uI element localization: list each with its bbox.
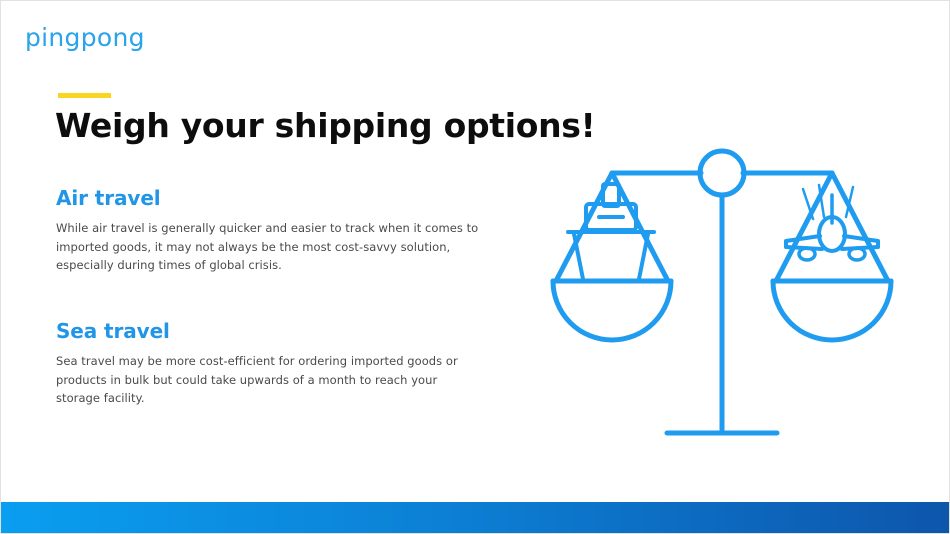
title-accent-bar [58,93,111,98]
slide: pingpong Weigh your shipping options! Ai… [0,0,950,534]
airplane-icon [786,185,878,260]
section-air-travel: Air travel While air travel is generally… [56,187,496,275]
section-heading-air: Air travel [56,187,496,209]
scale-pivot-circle [700,151,744,195]
brand-logo: pingpong [25,25,145,50]
footer-gradient-bar [1,502,949,533]
ship-icon [568,184,654,279]
section-sea-travel: Sea travel Sea travel may be more cost-e… [56,320,496,408]
section-body-air: While air travel is generally quicker an… [56,219,481,275]
right-pan-bowl [773,281,891,340]
right-pan-hanger-b [832,173,888,281]
section-heading-sea: Sea travel [56,320,496,342]
section-body-sea: Sea travel may be more cost-efficient fo… [56,352,481,408]
balance-scale-illustration [541,131,921,451]
left-pan-bowl [553,281,671,340]
page-title: Weigh your shipping options! [55,107,615,145]
